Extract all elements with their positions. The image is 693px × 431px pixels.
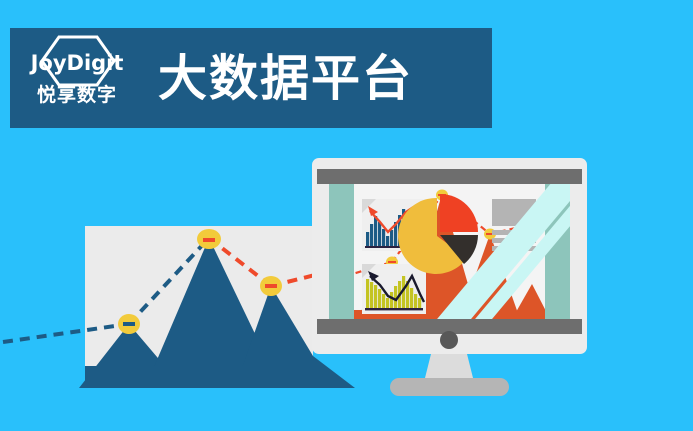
illustration-canvas: JoyDigit 悦享数字 大数据平台 xyxy=(0,0,693,431)
header-banner: JoyDigit 悦享数字 大数据平台 xyxy=(10,28,492,128)
page-title: 大数据平台 xyxy=(158,54,413,103)
monitor-stand-base xyxy=(390,378,509,396)
monitor-top-bar xyxy=(317,169,582,184)
logo-chinese-name: 悦享数字 xyxy=(37,86,117,105)
screen-glare xyxy=(354,184,570,319)
monitor-left-strip xyxy=(329,184,354,319)
power-button-icon[interactable] xyxy=(440,331,458,349)
trend-line-left-segment xyxy=(3,324,129,342)
logo-wordmark: JoyDigit xyxy=(31,53,124,74)
logo: JoyDigit 悦享数字 xyxy=(18,35,136,121)
desktop-monitor xyxy=(312,158,587,354)
